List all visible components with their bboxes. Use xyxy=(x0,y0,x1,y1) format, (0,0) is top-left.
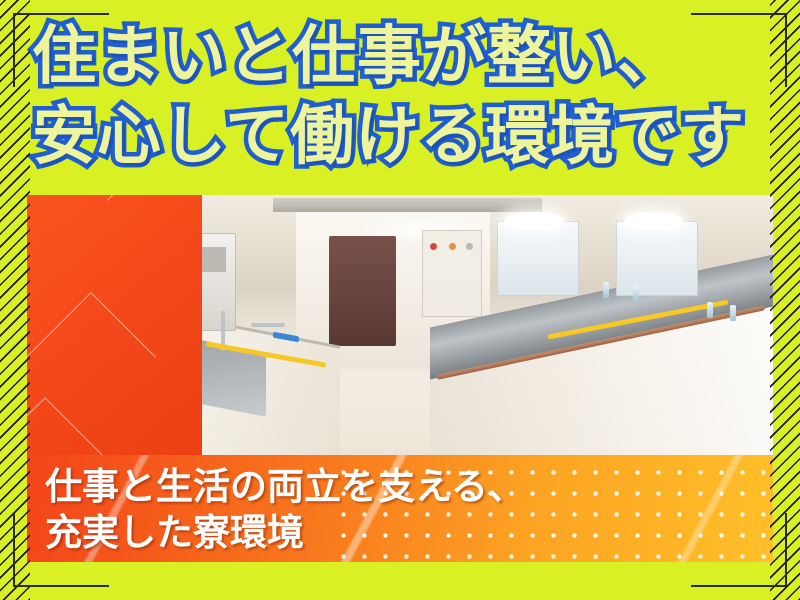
chevron-decor-b xyxy=(107,195,217,255)
banner-line-2: 充実した寮環境 xyxy=(45,510,304,556)
hatch-border-right xyxy=(770,0,800,600)
photo-kitchen-corridor xyxy=(27,195,773,485)
headline-line-2: 安心して働ける環境です xyxy=(32,102,745,172)
banner-line-1: 仕事と生活の両立を支える、 xyxy=(45,464,525,510)
poster-canvas: 住まいと仕事が整い、 安心して働ける環境です 仕事と生活の両立を支える、 充実し… xyxy=(0,0,800,600)
headline-line-1: 住まいと仕事が整い、 xyxy=(32,22,682,92)
bottom-banner: 仕事と生活の両立を支える、 充実した寮環境 xyxy=(27,455,773,562)
photo-orange-overlay xyxy=(27,195,202,485)
